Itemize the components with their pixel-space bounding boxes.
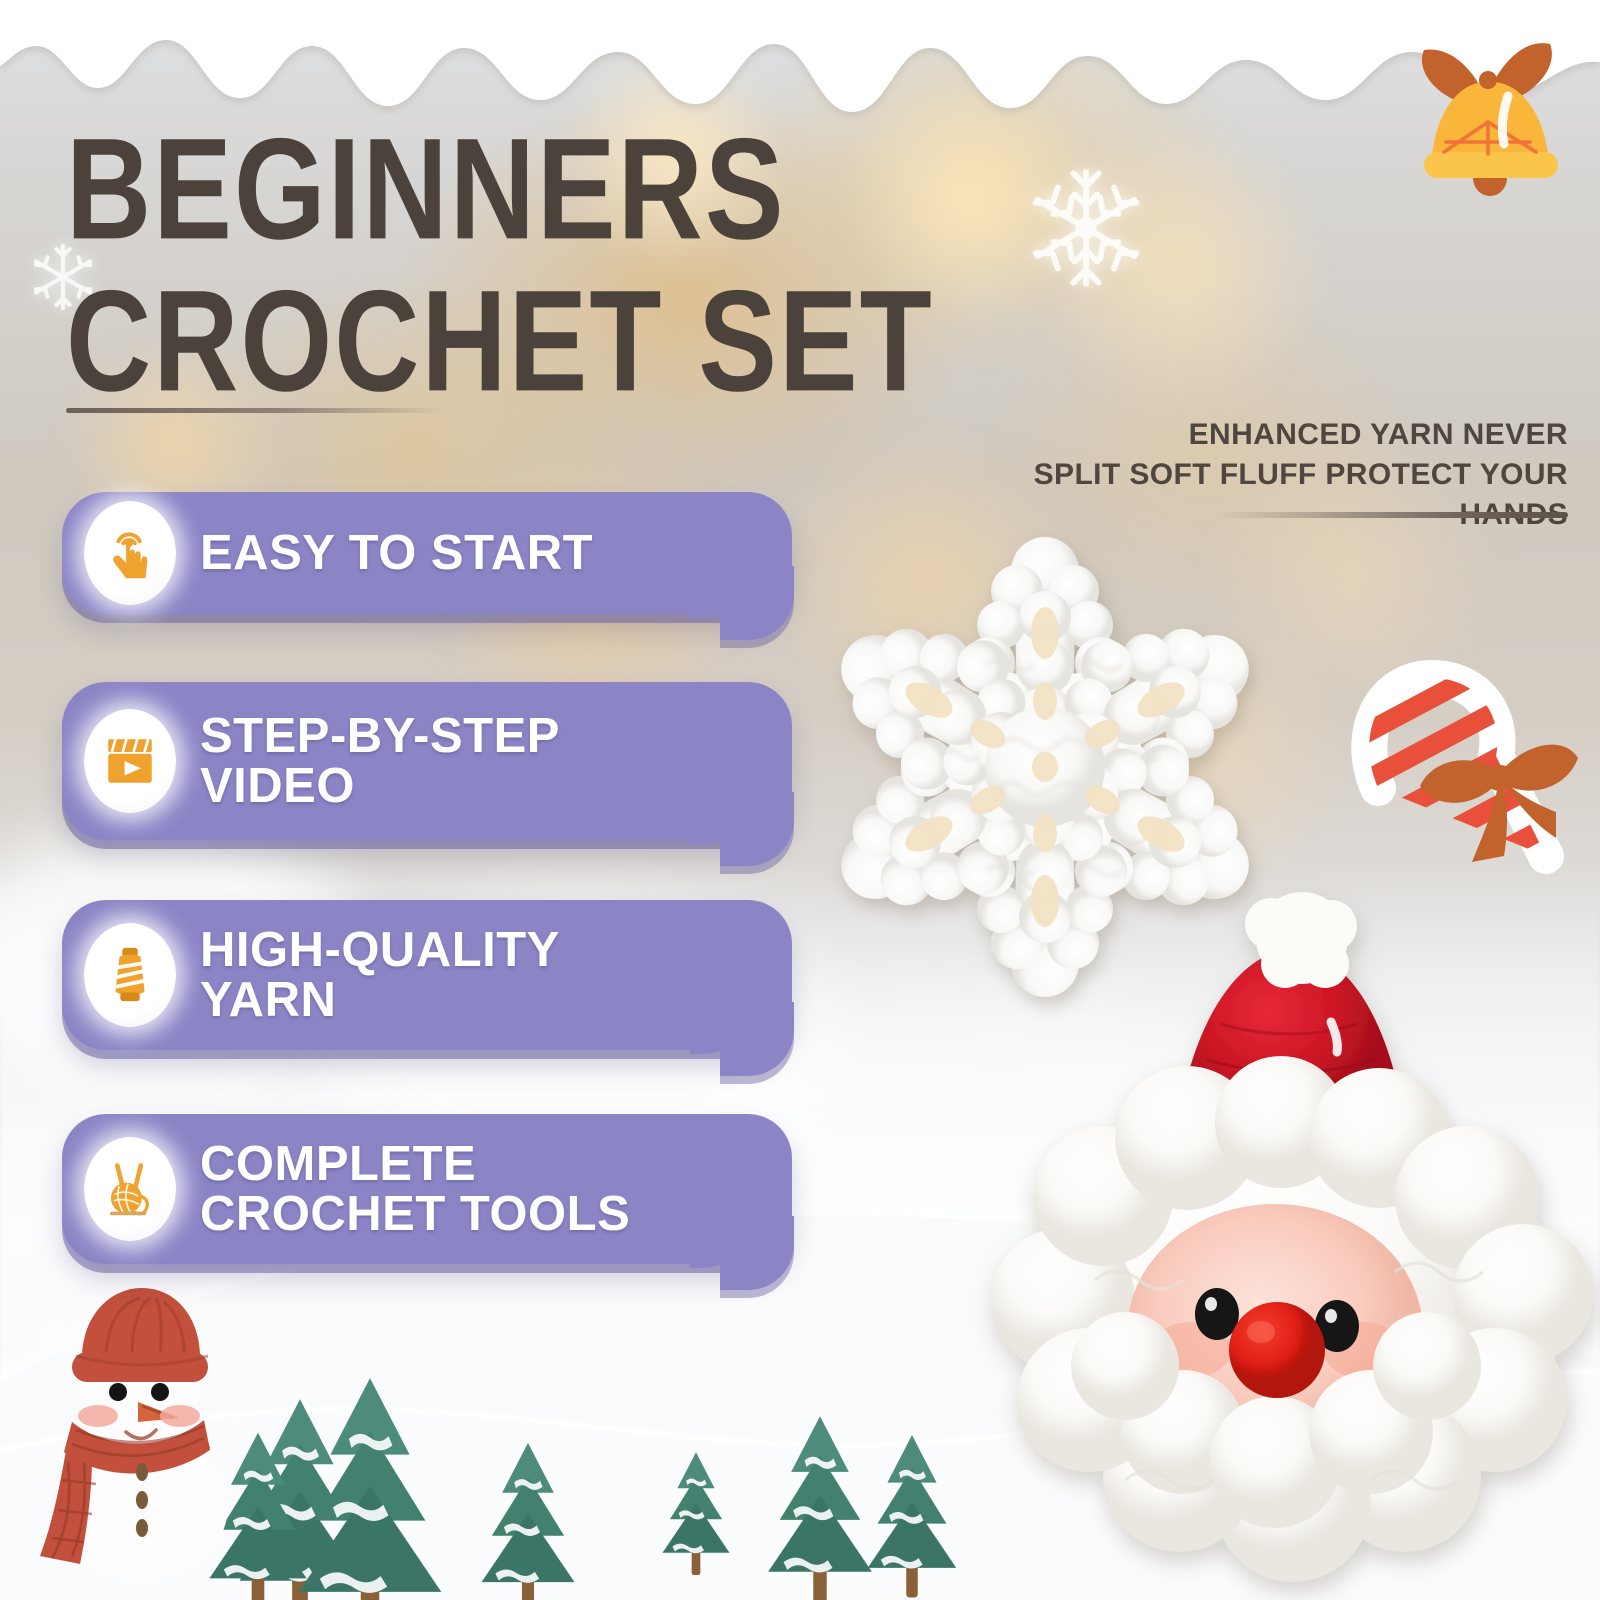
tagline-line-1: ENHANCED YARN NEVER [928,415,1568,455]
pill-label: HIGH-QUALITY YARN [200,925,560,1026]
page-title: BEGINNERS CROCHET SET [66,120,1106,387]
tap-hand-icon [84,501,176,605]
feature-pill-high-quality-yarn[interactable]: HIGH-QUALITY YARN [62,900,792,1050]
tagline-divider [1218,512,1568,518]
pill-label: STEP-BY-STEP VIDEO [200,711,560,812]
title-line-2: CROCHET SET [66,272,1106,413]
video-play-icon [84,709,176,813]
title-divider [66,408,444,413]
pill-label: COMPLETE CROCHET TOOLS [200,1139,630,1240]
feature-pill-complete-crochet-tools[interactable]: COMPLETE CROCHET TOOLS [62,1114,792,1264]
title-line-1: BEGINNERS [66,120,1106,261]
candy-cane-icon [1320,640,1600,875]
pill-label: EASY TO START [200,528,593,578]
christmas-bell-icon [1388,22,1578,207]
snowman-icon [14,1272,264,1592]
product-infographic: BEGINNERS CROCHET SET ENHANCED YARN NEVE… [0,0,1600,1600]
tagline-line-2: SPLIT SOFT FLUFF PROTECT YOUR HANDS [928,455,1568,535]
feature-pill-easy-to-start[interactable]: EASY TO START [62,492,792,614]
yarn-ball-needles-icon [84,1137,176,1241]
yarn-spool-icon [84,923,176,1027]
pine-trees [230,1380,930,1600]
crochet-santa-photo [975,880,1600,1580]
feature-pill-step-by-step-video[interactable]: STEP-BY-STEP VIDEO [62,682,792,840]
